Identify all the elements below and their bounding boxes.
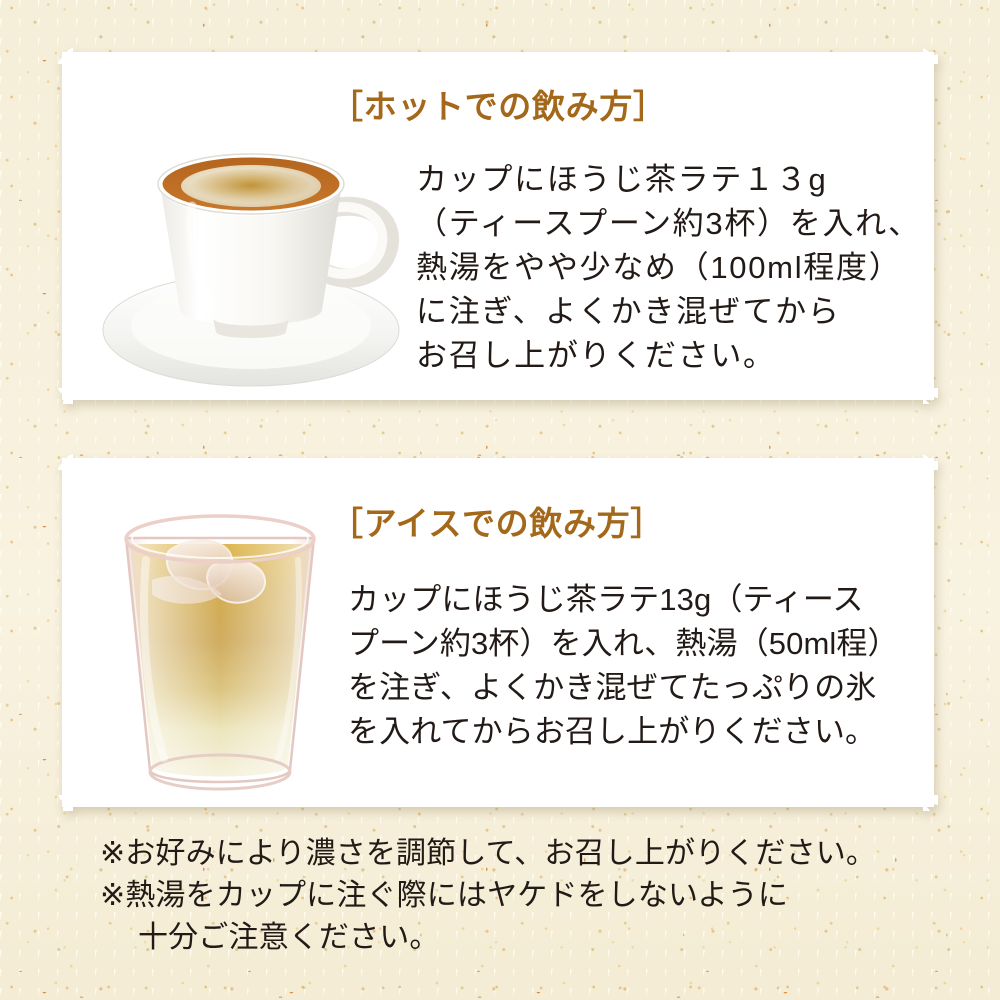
hot-body-line-2: （ティースプーン約3杯）を入れ、 [416,202,921,246]
card-deckle-top-edge [58,51,938,64]
card-deckle-right-edge [923,454,935,811]
hot-latte-cup-image [96,132,406,394]
hot-section-body: カップにほうじ茶ラテ１３g （ティースプーン約3杯）を入れ、 熱湯をやや少なめ（… [416,158,921,378]
card-deckle-left-edge [61,454,73,811]
iced-body-line-4: を入れてからお召し上がりください。 [348,710,899,754]
hot-body-line-1: カップにほうじ茶ラテ１３g [416,158,921,202]
footer-note-1: ※お好みにより濃さを調節して、お召し上がりください。 [100,833,876,875]
iced-body-line-1: カップにほうじ茶ラテ13g（ティース [348,578,899,622]
iced-section-body: カップにほうじ茶ラテ13g（ティース プーン約3杯）を入れ、熱湯（50ml程） … [348,578,899,754]
card-deckle-left-edge [61,48,73,404]
iced-latte-glass-image [112,508,328,796]
card-deckle-right-edge [923,48,935,404]
card-deckle-top-edge [58,457,938,470]
hot-body-line-3: 熱湯をやや少なめ（100ml程度） [416,246,921,290]
footer-note-3: 十分ご注意ください。 [100,917,876,959]
iced-body-line-3: を注ぎ、よくかき混ぜてたっぷりの氷 [348,666,899,710]
footer-notes: ※お好みにより濃さを調節して、お召し上がりください。 ※熱湯をカップに注ぐ際には… [100,833,876,959]
hot-body-line-5: お召し上がりください。 [416,334,921,378]
iced-section-title: ［アイスでの飲み方］ [330,497,664,545]
hot-section-title: ［ホットでの飲み方］ [330,80,667,128]
iced-body-line-2: プーン約3杯）を入れ、熱湯（50ml程） [348,622,899,666]
card-deckle-bottom-edge [58,795,938,808]
hot-body-line-4: に注ぎ、よくかき混ぜてから [416,290,921,334]
footer-note-2: ※熱湯をカップに注ぐ際にはヤケドをしないように [100,875,876,917]
